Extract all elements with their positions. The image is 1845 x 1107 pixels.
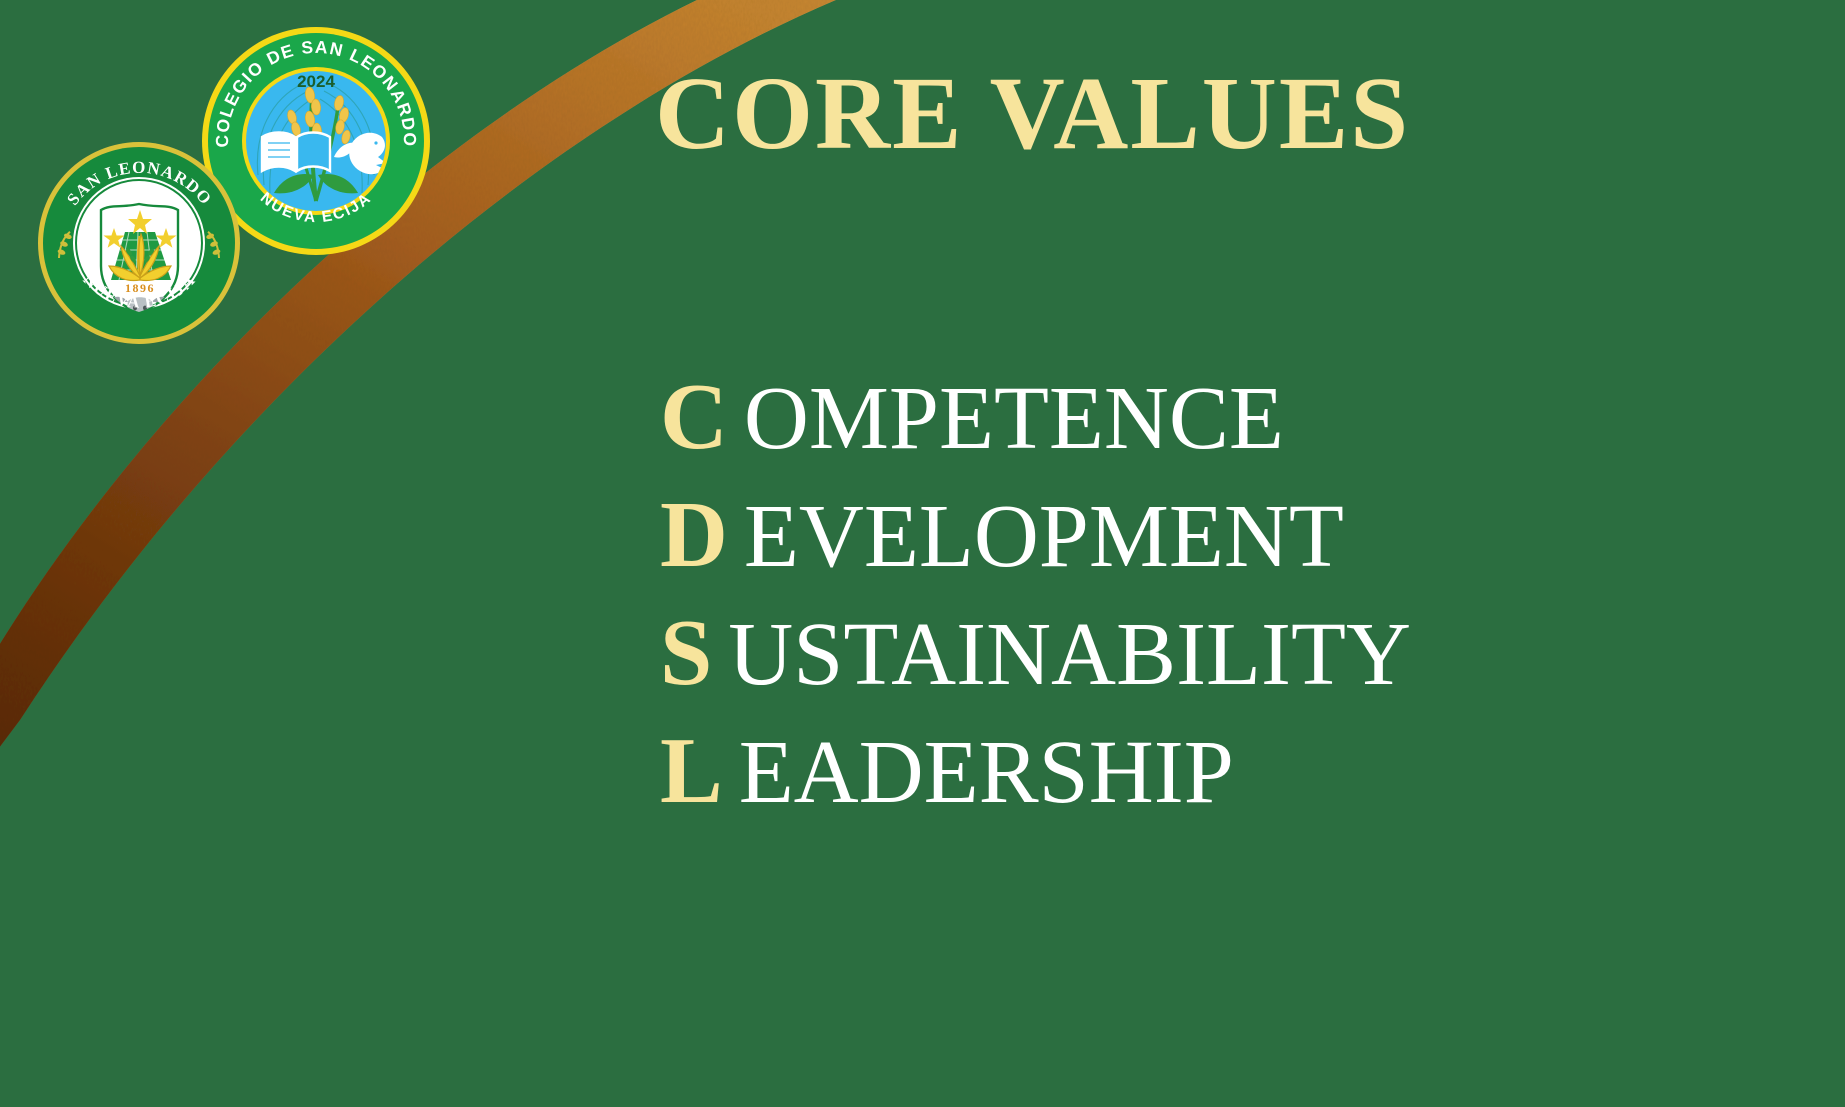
value-initial-letter: S xyxy=(660,598,712,708)
value-item-development: DEVELOPMENT xyxy=(660,480,1460,598)
value-initial-letter: L xyxy=(660,716,723,826)
municipal-seal-icon: 1896 SAN LEONARDO NUEVA ECIJA xyxy=(37,140,242,345)
value-item-competence: COMPETENCE xyxy=(660,362,1460,480)
core-values-list: COMPETENCE DEVELOPMENT SUSTAINABILITY LE… xyxy=(660,362,1460,834)
value-initial-letter: C xyxy=(660,362,728,472)
san-leonardo-municipal-seal-logo: 1896 SAN LEONARDO NUEVA ECIJA xyxy=(37,140,242,345)
page-title: CORE VALUES xyxy=(655,62,1395,166)
value-item-leadership: LEADERSHIP xyxy=(660,716,1460,834)
college-seal-year: 2024 xyxy=(297,72,335,91)
slide-canvas: 2024 COLEGIO DE SAN LEONARDO NUEVA ECIJA xyxy=(0,0,1845,1107)
value-remainder-text: EADERSHIP xyxy=(739,718,1234,828)
value-remainder-text: EVELOPMENT xyxy=(744,482,1344,592)
value-remainder-text: OMPETENCE xyxy=(744,364,1284,474)
value-initial-letter: D xyxy=(660,480,728,590)
value-remainder-text: USTAINABILITY xyxy=(728,600,1411,710)
value-item-sustainability: SUSTAINABILITY xyxy=(660,598,1460,716)
